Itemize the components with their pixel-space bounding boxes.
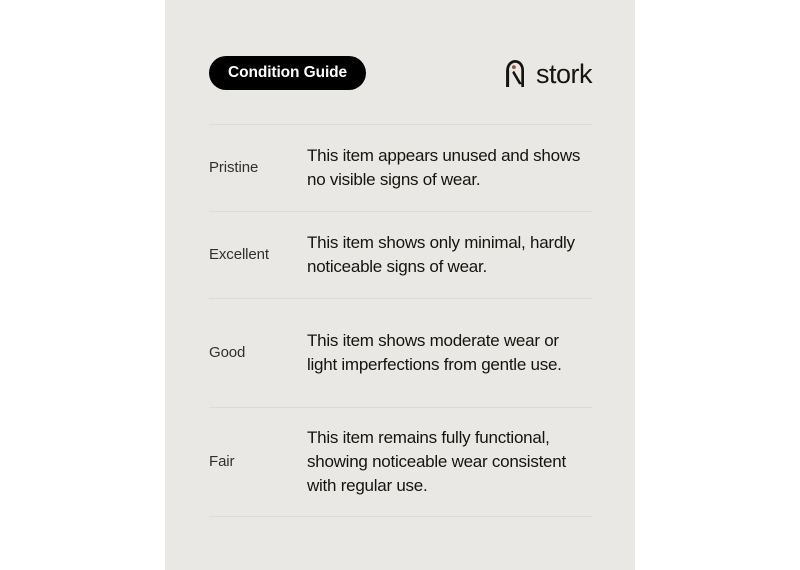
stork-arch-icon: [503, 58, 527, 88]
card-header: Condition Guide stork: [209, 56, 592, 92]
condition-description: This item shows moderate wear or light i…: [307, 329, 592, 377]
condition-description: This item remains fully functional, show…: [307, 426, 592, 498]
condition-guide-card: Condition Guide stork: [165, 0, 635, 570]
brand-logo[interactable]: stork: [503, 58, 592, 88]
condition-guide-table: Pristine This item appears unused and sh…: [209, 124, 592, 517]
condition-label: Fair: [209, 453, 307, 471]
condition-guide-badge-label: Condition Guide: [228, 64, 347, 82]
table-row: Excellent This item shows only minimal, …: [209, 212, 592, 298]
condition-label: Excellent: [209, 246, 307, 264]
condition-label: Good: [209, 344, 307, 362]
screen-root: Condition Guide stork: [0, 0, 800, 570]
condition-guide-badge[interactable]: Condition Guide: [209, 56, 366, 90]
condition-description: This item appears unused and shows no vi…: [307, 144, 592, 192]
table-row: Good This item shows moderate wear or li…: [209, 299, 592, 407]
table-row: Pristine This item appears unused and sh…: [209, 125, 592, 211]
table-row: Fair This item remains fully functional,…: [209, 408, 592, 516]
table-divider-bottom: [209, 516, 592, 517]
brand-wordmark: stork: [536, 61, 592, 88]
condition-label: Pristine: [209, 159, 307, 177]
condition-description: This item shows only minimal, hardly not…: [307, 231, 592, 279]
